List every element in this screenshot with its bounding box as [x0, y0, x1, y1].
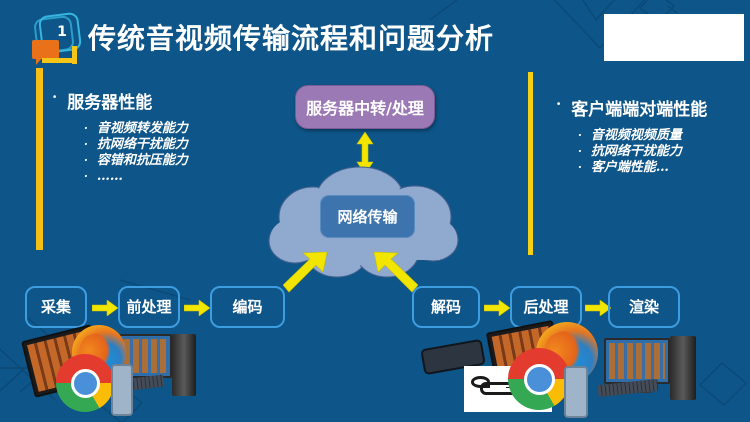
left-heading: 服务器性能 — [67, 88, 152, 113]
list-item: ·抗网络干扰能力 — [578, 144, 707, 160]
arrow-right-icon — [92, 300, 118, 316]
right-heading-row: · 客户端端对端性能 — [556, 95, 707, 120]
list-item: ·客户端性能… — [578, 160, 707, 176]
bullet-dot: · — [84, 121, 88, 137]
arrow-right-icon — [184, 300, 210, 316]
bullet-dot: · — [52, 88, 57, 106]
left-device-cluster — [24, 322, 254, 422]
bullet-dot: · — [84, 153, 88, 169]
bullet-dot: · — [578, 144, 582, 160]
list-item: ·抗网络干扰能力 — [84, 137, 188, 153]
bullet-dot: · — [578, 160, 582, 176]
list-item-label: 客户端性能… — [591, 160, 669, 176]
page-title: 传统音视频传输流程和问题分析 — [88, 17, 494, 57]
bullet-dot: · — [556, 95, 561, 113]
bracket-vertical-icon — [72, 46, 77, 64]
slide-canvas: 1 传统音视频传输流程和问题分析 · 服务器性能 ·音视频转发能力 ·抗网络干扰… — [0, 0, 750, 422]
list-item: ·音视频转发能力 — [84, 121, 188, 137]
list-item-label: …… — [97, 169, 123, 185]
bullet-dot: · — [84, 137, 88, 153]
list-item-label: 抗网络干扰能力 — [591, 144, 682, 160]
phone-device-icon — [111, 364, 133, 416]
bullet-dot: · — [84, 169, 88, 185]
step-badge-icon: 1 — [30, 14, 86, 68]
arrow-right-icon — [484, 300, 510, 316]
network-transport-box: 网络传输 — [320, 195, 415, 238]
left-heading-row: · 服务器性能 — [52, 88, 188, 113]
list-item-label: 音视频转发能力 — [97, 121, 188, 137]
right-device-cluster — [412, 322, 742, 422]
server-relay-box: 服务器中转/处理 — [295, 85, 435, 129]
speech-bubble-icon — [32, 40, 59, 59]
right-sub-list: ·音视频视频质量 ·抗网络干扰能力 ·客户端性能… — [578, 128, 707, 176]
bullet-dot: · — [578, 128, 582, 144]
list-item-label: 容错和抗压能力 — [97, 153, 188, 169]
left-sub-list: ·音视频转发能力 ·抗网络干扰能力 ·容错和抗压能力 ·…… — [84, 121, 188, 185]
pc-tower-icon — [670, 336, 696, 400]
right-heading: 客户端端对端性能 — [571, 95, 707, 120]
chrome-logo-icon — [508, 348, 570, 410]
right-bullet-block: · 客户端端对端性能 ·音视频视频质量 ·抗网络干扰能力 ·客户端性能… — [556, 95, 707, 176]
arrow-cloud-to-decode-icon — [370, 252, 418, 296]
left-bullet-block: · 服务器性能 ·音视频转发能力 ·抗网络干扰能力 ·容错和抗压能力 ·…… — [52, 88, 188, 185]
logo-placeholder — [604, 14, 744, 61]
arrow-encode-to-cloud-icon — [283, 252, 331, 296]
list-item-label: 抗网络干扰能力 — [97, 137, 188, 153]
left-accent-bar — [36, 68, 43, 250]
chrome-logo-icon — [56, 354, 114, 412]
pc-tower-icon — [172, 334, 196, 396]
right-accent-bar — [528, 72, 533, 255]
list-item: ·容错和抗压能力 — [84, 153, 188, 169]
phone-device-icon — [564, 366, 588, 418]
list-item: ·音视频视频质量 — [578, 128, 707, 144]
list-item: ·…… — [84, 169, 188, 185]
bracket-horizontal-icon — [42, 58, 76, 63]
list-item-label: 音视频视频质量 — [591, 128, 682, 144]
